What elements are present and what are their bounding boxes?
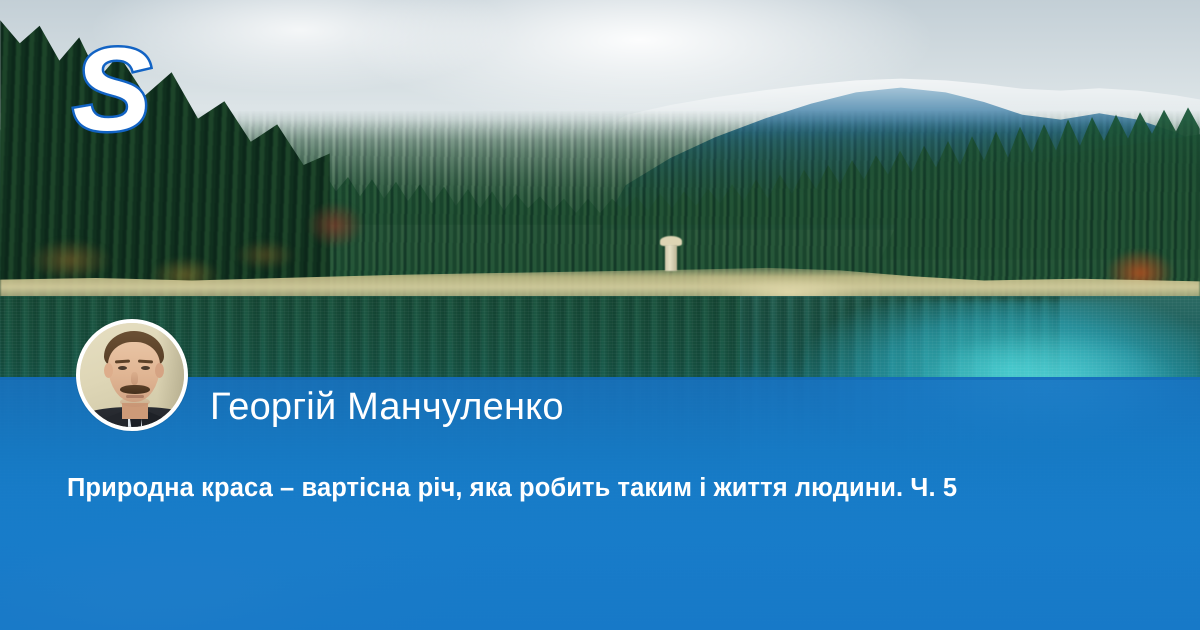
- social-share-card: S Георгій Манчуленко Природна краса – ва…: [0, 0, 1200, 630]
- avatar-eye-right: [141, 366, 150, 370]
- article-headline[interactable]: Природна краса – вартісна річ, яка робит…: [67, 473, 957, 505]
- avatar[interactable]: [76, 319, 188, 431]
- avatar-mouth: [126, 395, 144, 398]
- avatar-mustache: [120, 385, 150, 394]
- gazebo-tower: [660, 236, 682, 272]
- avatar-nose: [131, 372, 138, 385]
- avatar-chin: [120, 397, 150, 407]
- avatar-ear-left: [104, 363, 113, 378]
- avatar-ear-right: [155, 363, 164, 378]
- avatar-eye-left: [118, 366, 127, 370]
- author-name[interactable]: Георгій Манчуленко: [210, 386, 564, 430]
- autumn-foliage-left: [295, 190, 375, 260]
- gazebo-body: [665, 245, 677, 271]
- svg-text:S: S: [73, 34, 152, 154]
- s-monogram-logo[interactable]: S: [62, 34, 162, 154]
